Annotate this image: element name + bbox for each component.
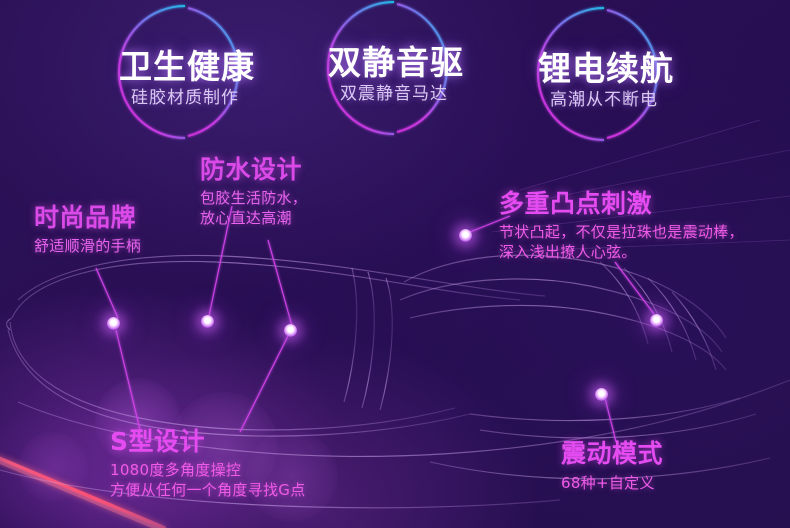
callout-brand-title: 时尚品牌 [34, 204, 141, 232]
hotspot-nub[interactable] [650, 314, 663, 327]
badge-battery-title: 锂电续航 [538, 52, 670, 85]
badge-silent-motor: 双静音驱 双震静音马达 [328, 46, 460, 103]
product-feature-graphic: 卫生健康 硅胶材质制作 双静音驱 双震静音马达 锂电续航 高潮从不断电 时尚品牌… [0, 0, 790, 528]
callout-vibration: 震动模式 68种+自定义 [561, 440, 663, 494]
badge-hygiene: 卫生健康 硅胶材质制作 [119, 50, 251, 107]
callout-waterproof-line-1: 包胶生活防水， [200, 189, 307, 209]
callout-s-shape-line-1: 1080度多角度操控 [110, 461, 306, 481]
callout-texture-title: 多重凸点刺激 [499, 190, 744, 218]
badge-silent-motor-subtitle: 双震静音马达 [328, 86, 460, 103]
callout-texture-line-1: 节状凸起，不仅是拉珠也是震动棒， [499, 223, 744, 243]
callout-s-shape-title: S型设计 [110, 428, 306, 456]
hotspot-s-curve[interactable] [284, 324, 297, 337]
hotspot-motor[interactable] [595, 388, 608, 401]
callout-brand-line-1: 舒适顺滑的手柄 [34, 237, 141, 257]
hotspot-bead-tip[interactable] [459, 229, 472, 242]
callout-s-shape: S型设计 1080度多角度操控 方便从任何一个角度寻找G点 [110, 428, 306, 501]
hotspot-waterproof-point[interactable] [201, 315, 214, 328]
callout-brand: 时尚品牌 舒适顺滑的手柄 [34, 204, 141, 257]
callout-waterproof: 防水设计 包胶生活防水， 放心直达高潮 [200, 156, 307, 229]
callout-waterproof-line-2: 放心直达高潮 [200, 209, 307, 229]
callout-vibration-line-1: 68种+自定义 [561, 474, 663, 494]
badge-battery-subtitle: 高潮从不断电 [538, 92, 670, 109]
callout-s-shape-line-2: 方便从任何一个角度寻找G点 [110, 481, 306, 501]
callout-vibration-title: 震动模式 [561, 440, 663, 468]
badge-hygiene-title: 卫生健康 [119, 50, 251, 83]
callout-waterproof-title: 防水设计 [200, 156, 307, 184]
hotspot-handle[interactable] [107, 317, 120, 330]
bokeh-circle-3 [18, 432, 88, 502]
badge-silent-motor-title: 双静音驱 [328, 46, 460, 79]
badge-battery: 锂电续航 高潮从不断电 [538, 52, 670, 109]
callout-texture: 多重凸点刺激 节状凸起，不仅是拉珠也是震动棒， 深入浅出撩人心弦。 [499, 190, 744, 263]
badge-hygiene-subtitle: 硅胶材质制作 [119, 90, 251, 107]
callout-texture-line-2: 深入浅出撩人心弦。 [499, 243, 744, 263]
